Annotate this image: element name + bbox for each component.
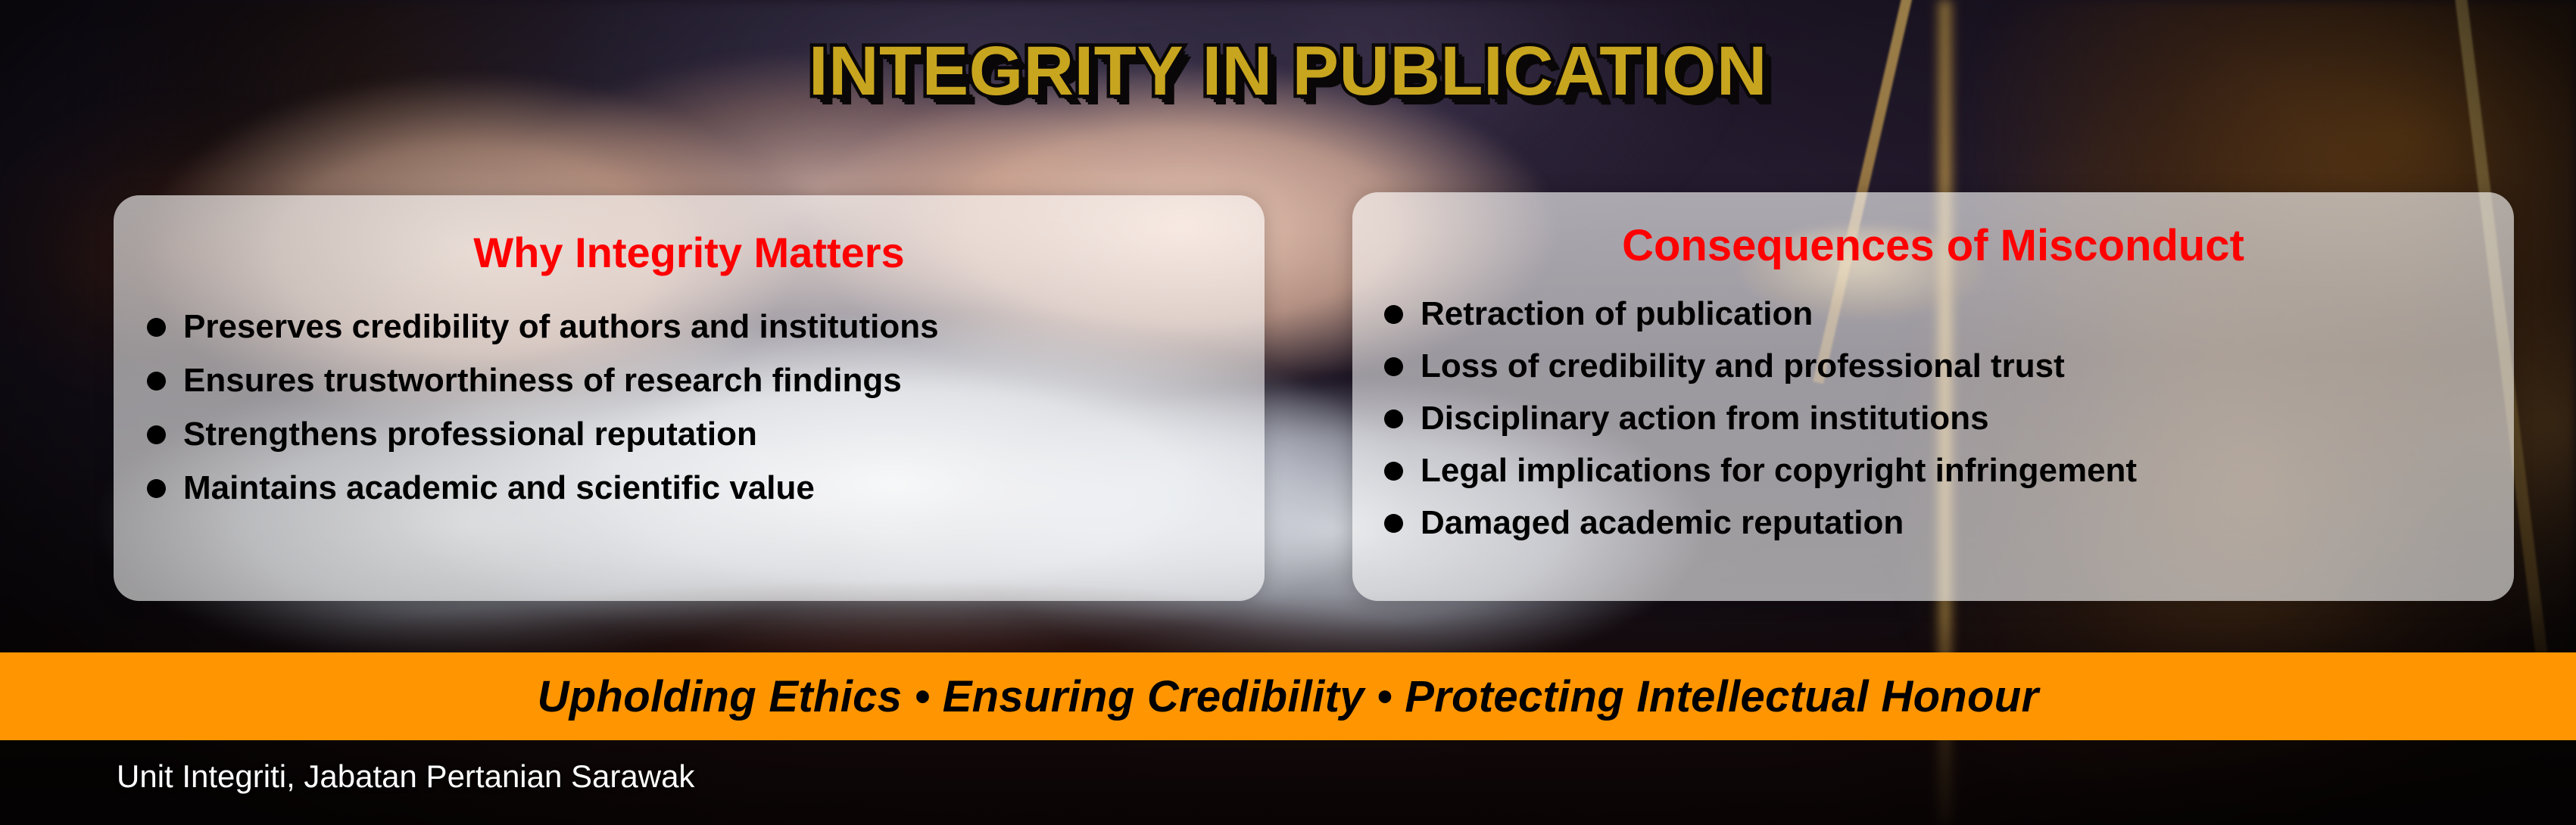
- list-item: Preserves credibility of authors and ins…: [147, 300, 1265, 353]
- list-item-label: Retraction of publication: [1421, 295, 1813, 333]
- card-consequences-of-misconduct: Consequences of Misconduct Retraction of…: [1352, 192, 2514, 601]
- list-item: Damaged academic reputation: [1384, 497, 2514, 549]
- list-item-label: Maintains academic and scientific value: [183, 469, 815, 507]
- list-item: Disciplinary action from institutions: [1384, 392, 2514, 444]
- list-item: Loss of credibility and professional tru…: [1384, 340, 2514, 392]
- bullet-circle-icon: [147, 479, 166, 498]
- bullet-circle-icon: [1384, 357, 1403, 376]
- bullet-circle-icon: [147, 372, 166, 391]
- list-item-label: Strengthens professional reputation: [183, 416, 757, 453]
- card-left-bullet-list: Preserves credibility of authors and ins…: [114, 300, 1265, 515]
- tagline-band: Upholding Ethics • Ensuring Credibility …: [0, 652, 2576, 740]
- card-why-integrity-matters: Why Integrity Matters Preserves credibil…: [114, 195, 1265, 601]
- list-item-label: Loss of credibility and professional tru…: [1421, 347, 2065, 385]
- bullet-circle-icon: [1384, 305, 1403, 324]
- integrity-poster: INTEGRITY IN PUBLICATION Why Integrity M…: [0, 0, 2576, 825]
- list-item: Maintains academic and scientific value: [147, 461, 1265, 515]
- list-item-label: Ensures trustworthiness of research find…: [183, 362, 902, 400]
- footer-organisation: Unit Integriti, Jabatan Pertanian Sarawa…: [117, 758, 694, 795]
- bullet-circle-icon: [147, 318, 166, 337]
- list-item-label: Preserves credibility of authors and ins…: [183, 308, 939, 346]
- bullet-circle-icon: [1384, 514, 1403, 533]
- poster-title: INTEGRITY IN PUBLICATION: [0, 36, 2576, 106]
- tagline-text: Upholding Ethics • Ensuring Credibility …: [538, 671, 2039, 722]
- list-item: Strengthens professional reputation: [147, 407, 1265, 461]
- bullet-circle-icon: [147, 425, 166, 444]
- list-item: Ensures trustworthiness of research find…: [147, 353, 1265, 407]
- card-right-bullet-list: Retraction of publication Loss of credib…: [1352, 288, 2514, 549]
- card-right-heading: Consequences of Misconduct: [1352, 224, 2514, 268]
- bullet-circle-icon: [1384, 409, 1403, 428]
- list-item-label: Legal implications for copyright infring…: [1421, 452, 2137, 490]
- card-left-heading: Why Integrity Matters: [114, 232, 1265, 274]
- bullet-circle-icon: [1384, 462, 1403, 481]
- list-item: Legal implications for copyright infring…: [1384, 444, 2514, 497]
- list-item-label: Damaged academic reputation: [1421, 504, 1904, 542]
- list-item: Retraction of publication: [1384, 288, 2514, 340]
- list-item-label: Disciplinary action from institutions: [1421, 400, 1989, 437]
